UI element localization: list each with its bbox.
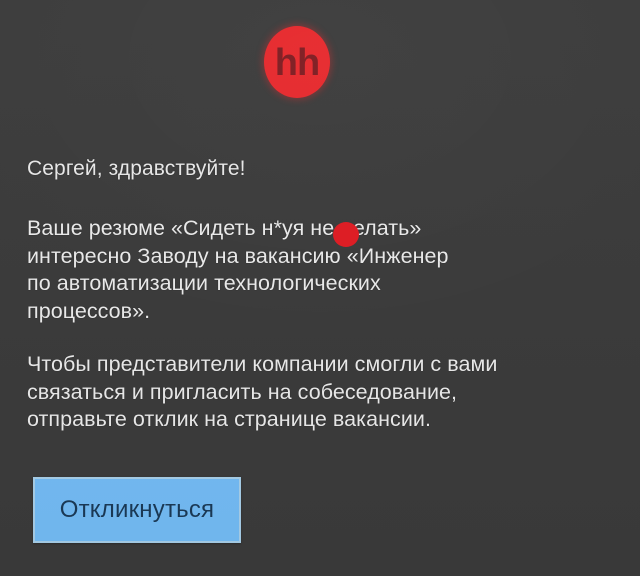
paragraph-line: связаться и пригласить на собеседование, (27, 379, 627, 407)
paragraph-line: интересно Заводу на вакансию «Инженер (27, 243, 627, 271)
apply-button[interactable]: Откликнуться (33, 477, 241, 543)
paragraph-line: Чтобы представители компании смогли с ва… (27, 351, 627, 379)
paragraph-line: по автоматизации технологических (27, 270, 627, 298)
message-body: Сергей, здравствуйте! Ваше резюме «Сидет… (27, 155, 627, 434)
censor-dot-icon (333, 222, 359, 247)
email-message-screenshot: hh Сергей, здравствуйте! Ваше резюме «Си… (0, 0, 640, 576)
hh-logo: hh (264, 26, 330, 98)
hh-logo-text: hh (275, 44, 319, 82)
greeting-text: Сергей, здравствуйте! (27, 155, 627, 183)
paragraph-line: процессов». (27, 298, 627, 326)
paragraph-vacancy-interest: Ваше резюме «Сидеть н*уя не делать» инте… (27, 215, 627, 325)
paragraph-line: Ваше резюме «Сидеть н*уя не делать» (27, 215, 627, 243)
paragraph-line: отправьте отклик на странице вакансии. (27, 406, 627, 434)
hh-logo-circle: hh (264, 26, 330, 98)
apply-button-label: Откликнуться (60, 498, 215, 522)
paragraph-call-to-action: Чтобы представители компании смогли с ва… (27, 351, 627, 434)
